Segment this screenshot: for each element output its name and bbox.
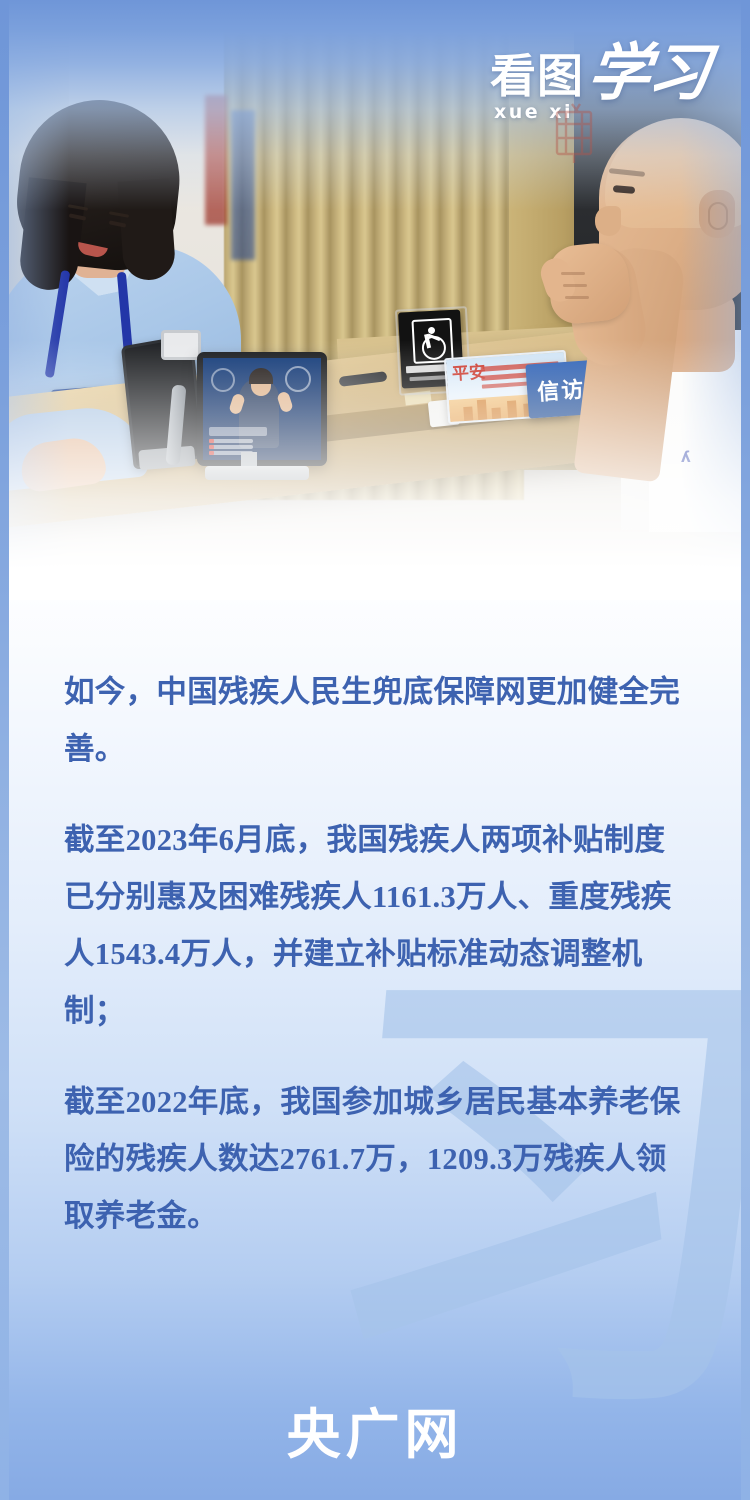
- chinese-seal-stamp-icon: [548, 100, 604, 166]
- brand-title-row: 看图 学习: [490, 48, 708, 99]
- article-body: 如今，中国残疾人民生兜底保障网更加健全完善。 截至2023年6月底，我国残疾人两…: [0, 664, 750, 1245]
- right-border-rail: [741, 0, 750, 1500]
- cnr-logo-text: 央广网: [287, 1408, 464, 1462]
- footer: 央广网: [0, 1408, 750, 1462]
- visitor-knuckle-line: [563, 284, 587, 287]
- left-border-rail: [0, 0, 9, 1500]
- visitor-nose: [595, 206, 621, 236]
- brand-logo: 看图 学习 xue xi: [490, 48, 708, 123]
- visitor-knuckle-line: [565, 296, 589, 299]
- visitor-knuckle-line: [561, 272, 585, 275]
- brand-title-calligraphy: 学习: [585, 48, 711, 99]
- poster-canvas: 平安 信访代 ʎ: [0, 0, 750, 1500]
- paragraph-3: 截至2022年底，我国参加城乡居民基本养老保险的残疾人数达2761.7万，120…: [64, 1074, 686, 1245]
- brand-title-primary: 看图: [490, 53, 584, 99]
- paragraph-2: 截至2023年6月底，我国残疾人两项补贴制度已分别惠及困难残疾人1161.3万人…: [64, 812, 686, 1040]
- photo-bottom-white-fade: [9, 340, 741, 600]
- paragraph-1: 如今，中国残疾人民生兜底保障网更加健全完善。: [64, 664, 686, 778]
